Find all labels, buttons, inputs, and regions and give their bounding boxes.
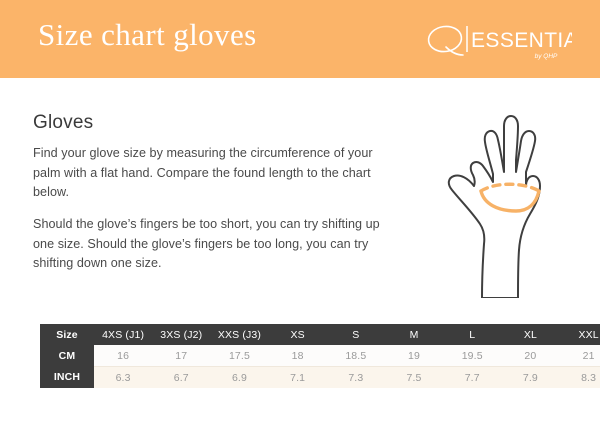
column-header-3xs: 3XS (J2) [152,324,210,345]
page-title: Size chart gloves [38,17,257,53]
instruction-paragraph-1: Find your glove size by measuring the ci… [33,144,393,203]
row-label-inch: INCH [40,367,94,389]
column-header-4xs: 4XS (J1) [94,324,152,345]
logo-q-mark [427,24,463,55]
column-header-s: S [327,324,385,345]
table-row-cm: CM 16 17 17.5 18 18.5 19 19.5 20 21 [40,345,600,367]
table-row-inch: INCH 6.3 6.7 6.9 7.1 7.3 7.5 7.7 7.9 8.3 [40,367,600,389]
cm-value-m: 19 [385,345,443,367]
inch-value-3xs: 6.7 [152,367,210,389]
column-header-xl: XL [501,324,559,345]
hand-measurement-illustration [440,108,580,298]
column-header-l: L [443,324,501,345]
cm-value-3xs: 17 [152,345,210,367]
inch-value-s: 7.3 [327,367,385,389]
inch-value-xxl: 8.3 [560,367,600,389]
size-chart-page: Size chart gloves ESSENTIALS by QHP Glov… [0,0,600,428]
inch-value-xxs: 6.9 [210,367,268,389]
logo-byline: by QHP [535,53,558,60]
column-header-xxl: XXL [560,324,600,345]
table-corner-label: Size [40,324,94,345]
cm-value-xxl: 21 [560,345,600,367]
inch-value-xs: 7.1 [269,367,327,389]
column-header-xxs: XXS (J3) [210,324,268,345]
column-header-m: M [385,324,443,345]
table-header-row: Size 4XS (J1) 3XS (J2) XXS (J3) XS S M L… [40,324,600,345]
row-label-cm: CM [40,345,94,367]
size-chart-table: Size 4XS (J1) 3XS (J2) XXS (J3) XS S M L… [40,324,600,388]
column-header-xs: XS [269,324,327,345]
cm-value-l: 19.5 [443,345,501,367]
instruction-paragraph-2: Should the glove’s fingers be too short,… [33,215,393,274]
brand-logo: ESSENTIALS by QHP [426,22,572,66]
cm-value-xxs: 17.5 [210,345,268,367]
cm-value-xl: 20 [501,345,559,367]
cm-value-s: 18.5 [327,345,385,367]
inch-value-m: 7.5 [385,367,443,389]
inch-value-xl: 7.9 [501,367,559,389]
section-heading: Gloves [33,112,93,134]
cm-value-4xs: 16 [94,345,152,367]
logo-wordmark: ESSENTIALS [471,29,572,52]
page-header: Size chart gloves ESSENTIALS by QHP [0,0,600,78]
inch-value-l: 7.7 [443,367,501,389]
inch-value-4xs: 6.3 [94,367,152,389]
cm-value-xs: 18 [269,345,327,367]
